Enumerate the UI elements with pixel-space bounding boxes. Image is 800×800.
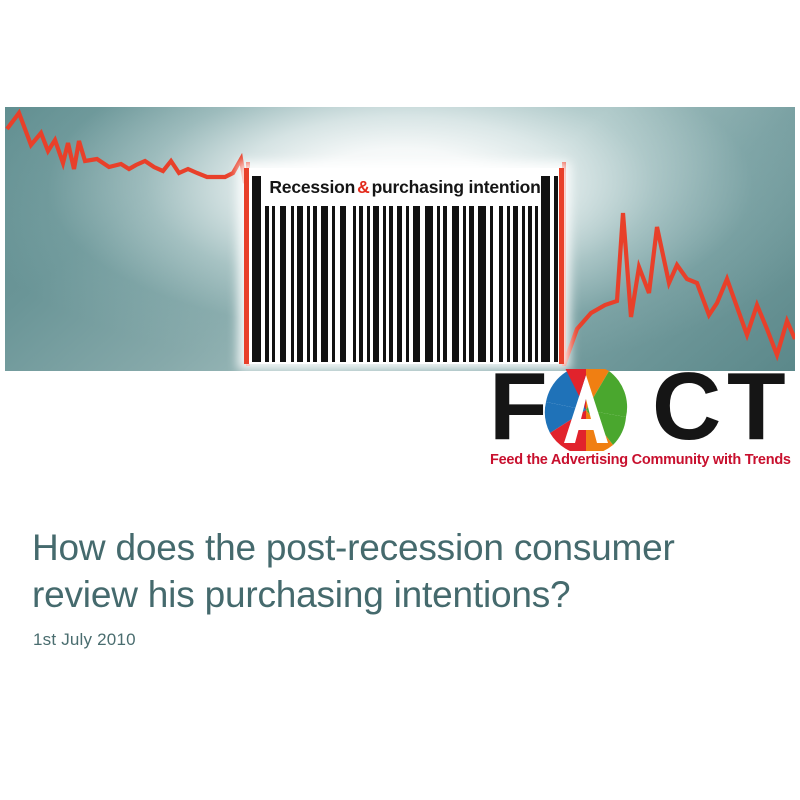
page-title-line-1: How does the post-recession consumer (32, 524, 762, 571)
barcode-bar (307, 206, 310, 362)
barcode: Recession & purchasing intention (244, 168, 564, 364)
barcode-bar (359, 206, 363, 362)
barcode-bar (535, 206, 538, 362)
barcode-bar (297, 206, 303, 362)
barcode-bar (367, 206, 370, 362)
page-title-line-2: review his purchasing intentions? (32, 571, 762, 618)
barcode-title: Recession & purchasing intention (266, 172, 544, 202)
barcode-guard-bar-right (541, 176, 550, 362)
barcode-bar (507, 206, 510, 362)
barcode-bar (499, 206, 503, 362)
barcode-bar (321, 206, 328, 362)
fact-wordmark: F (489, 366, 795, 454)
barcode-bar (413, 206, 420, 362)
barcode-bar (291, 206, 294, 362)
barcode-title-prefix: Recession (269, 177, 355, 198)
barcode-bar (397, 206, 402, 362)
trend-line-right (564, 213, 795, 365)
barcode-bar (340, 206, 346, 362)
barcode-guard-bar-right-2 (554, 176, 558, 362)
barcode-bar (443, 206, 447, 362)
barcode-bar (383, 206, 386, 362)
barcode-bar (265, 206, 269, 362)
slide-date: 1st July 2010 (33, 630, 136, 650)
logo-pie-a-icon (543, 369, 629, 451)
barcode-bar (389, 206, 393, 362)
logo-letter-t: T (727, 363, 784, 451)
barcode-bar (373, 206, 379, 362)
barcode-guard-bar-left (252, 176, 261, 362)
page-title: How does the post-recession consumer rev… (32, 524, 762, 618)
fact-logo: F (489, 366, 795, 478)
barcode-bar (490, 206, 493, 362)
barcode-bar (272, 206, 275, 362)
logo-letter-c: C (652, 363, 719, 451)
barcode-bar (463, 206, 466, 362)
barcode-bars-group (249, 176, 559, 362)
barcode-title-suffix: purchasing intention (372, 177, 541, 198)
barcode-right-red-edge (559, 168, 564, 364)
barcode-title-ampersand: & (355, 177, 371, 198)
barcode-bar (469, 206, 474, 362)
barcode-bar (280, 206, 286, 362)
barcode-bar (528, 206, 532, 362)
barcode-bar (478, 206, 486, 362)
barcode-bar (513, 206, 518, 362)
barcode-bar (437, 206, 440, 362)
trend-line-left (7, 113, 248, 183)
slide-root: Recession & purchasing intention F (0, 0, 800, 800)
logo-tagline: Feed the Advertising Community with Tren… (490, 452, 796, 468)
barcode-bar (313, 206, 317, 362)
barcode-bar (332, 206, 335, 362)
barcode-bar (522, 206, 525, 362)
barcode-bar (406, 206, 409, 362)
barcode-bar (353, 206, 356, 362)
barcode-bar (425, 206, 433, 362)
barcode-bar (452, 206, 459, 362)
logo-letter-f: F (489, 363, 546, 451)
hero-banner: Recession & purchasing intention (5, 107, 795, 371)
